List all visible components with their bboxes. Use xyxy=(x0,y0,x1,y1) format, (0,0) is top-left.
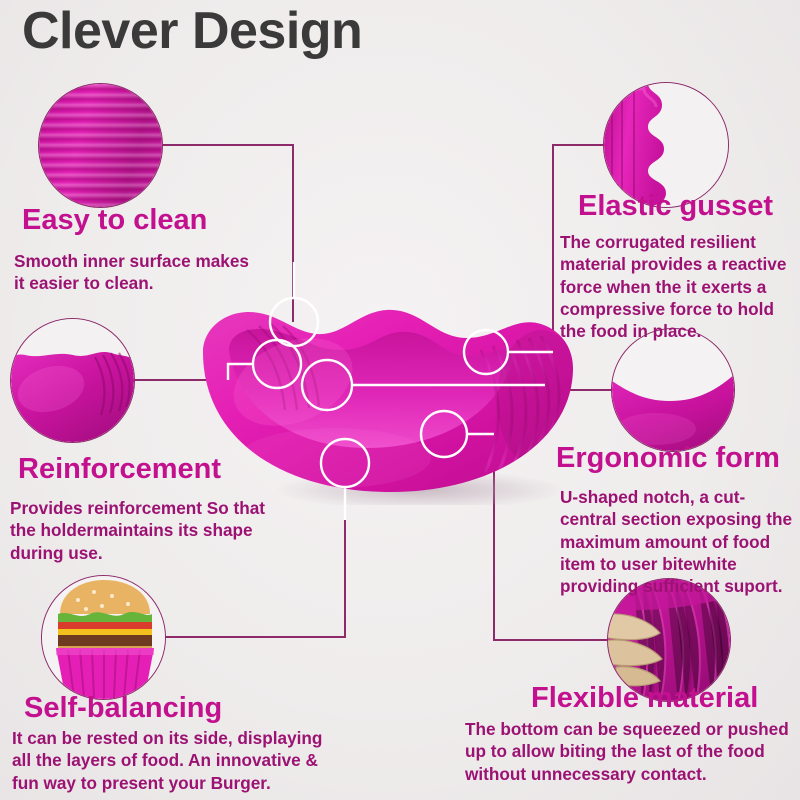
corrugated-inner-surface-icon xyxy=(39,84,162,207)
page-title: Clever Design xyxy=(22,4,362,59)
thumbnail-self-balancing xyxy=(41,575,166,700)
feature-heading-flexible-material: Flexible material xyxy=(531,684,758,713)
feature-heading-reinforcement: Reinforcement xyxy=(18,455,221,484)
thumbnail-ergonomic-form xyxy=(611,328,735,452)
feature-body-easy-to-clean: Smooth inner surface makes it easier to … xyxy=(14,250,250,295)
thumbnail-easy-to-clean xyxy=(38,83,163,208)
feature-body-ergonomic-form: U-shaped notch, a cut-central section ex… xyxy=(560,486,798,598)
feature-heading-self-balancing: Self-balancing xyxy=(24,694,222,723)
u-shaped-notch-icon xyxy=(612,329,734,451)
feature-body-reinforcement: Provides reinforcement So that the holde… xyxy=(10,497,288,564)
infographic-root: Clever Design xyxy=(0,0,800,800)
feature-body-self-balancing: It can be rested on its side, displaying… xyxy=(12,727,332,794)
feature-heading-easy-to-clean: Easy to clean xyxy=(22,206,207,235)
feature-heading-ergonomic-form: Ergonomic form xyxy=(556,444,780,473)
reinforced-rim-icon xyxy=(11,319,134,442)
thumbnail-reinforcement xyxy=(10,318,135,443)
feature-heading-elastic-gusset: Elastic gusset xyxy=(578,192,773,221)
feature-body-elastic-gusset: The corrugated resilient material provid… xyxy=(560,231,796,343)
burger-in-holder-icon xyxy=(42,576,165,699)
feature-body-flexible-material: The bottom can be squeezed or pushed up … xyxy=(465,718,795,785)
scalloped-gusset-icon xyxy=(604,83,728,207)
product-illustration xyxy=(185,290,585,505)
